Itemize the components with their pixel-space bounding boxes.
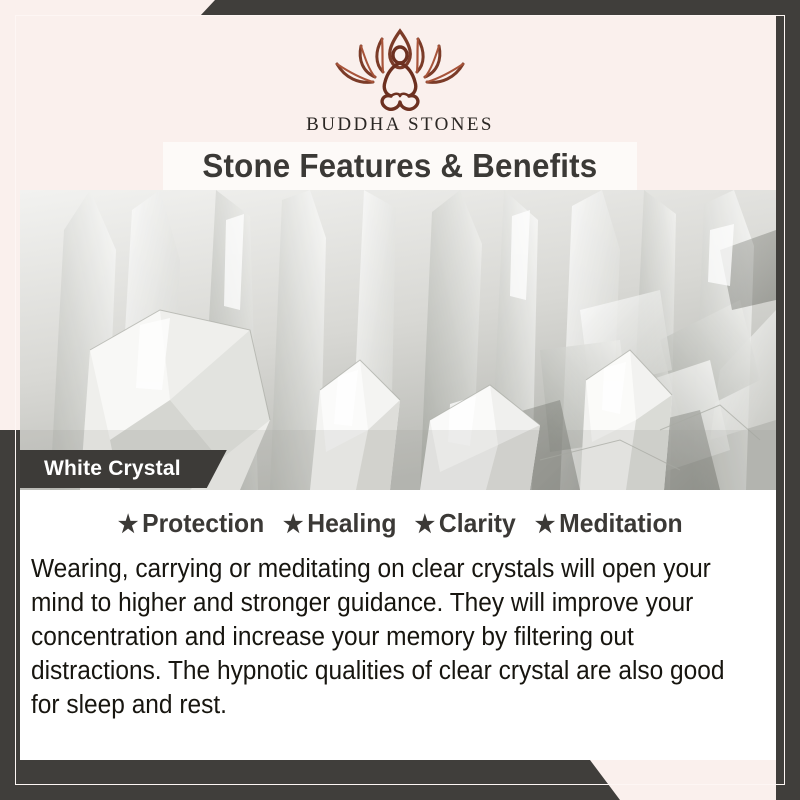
benefit-item-meditation: ★Meditation	[535, 508, 683, 539]
star-icon: ★	[117, 511, 137, 538]
description-panel: ★Protection ★Healing ★Clarity ★Meditatio…	[20, 490, 780, 760]
photo-caption-text: White Crystal	[44, 457, 181, 481]
frame-right-bar	[776, 0, 800, 800]
benefit-label: Meditation	[559, 508, 682, 538]
photo-caption-badge: White Crystal	[20, 450, 227, 488]
benefit-item-clarity: ★Clarity	[415, 508, 516, 539]
description-text: Wearing, carrying or meditating on clear…	[31, 552, 739, 722]
benefit-label: Healing	[307, 508, 396, 538]
lotus-meditation-figure-icon	[325, 22, 475, 112]
brand-name: BUDDHA STONES	[0, 114, 800, 136]
title-banner: Stone Features & Benefits	[163, 142, 637, 190]
benefits-list: ★Protection ★Healing ★Clarity ★Meditatio…	[20, 508, 780, 539]
white-crystal-cluster-photo	[20, 190, 776, 490]
stone-features-infographic: BUDDHA STONES Stone Features & Benefits	[0, 0, 800, 800]
header: BUDDHA STONES Stone Features & Benefits	[0, 0, 800, 192]
star-icon: ★	[415, 511, 435, 538]
star-icon: ★	[535, 511, 555, 538]
benefit-item-protection: ★Protection	[117, 508, 263, 539]
frame-left-bar	[0, 430, 20, 800]
star-icon: ★	[283, 511, 303, 538]
page-title: Stone Features & Benefits	[203, 147, 598, 185]
brand-logo-block: BUDDHA STONES	[0, 22, 800, 136]
benefit-item-healing: ★Healing	[283, 508, 396, 539]
benefit-label: Clarity	[439, 508, 516, 538]
benefit-label: Protection	[142, 508, 264, 538]
crystal-illustration	[20, 190, 776, 490]
